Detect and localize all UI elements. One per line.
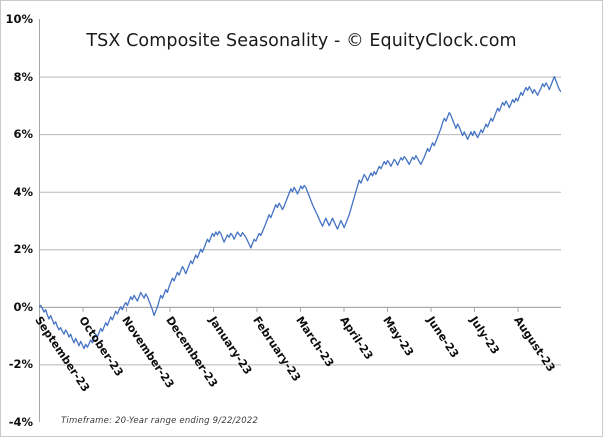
- y-axis-tick-label: 2%: [1, 242, 33, 256]
- gridlines: [39, 20, 561, 423]
- y-axis-tick-label: -4%: [1, 415, 33, 429]
- y-axis-tick-label: 10%: [1, 12, 33, 26]
- y-axis-tick-label: 4%: [1, 185, 33, 199]
- plot-svg: [39, 19, 561, 422]
- y-axis-tick-label: 0%: [1, 300, 33, 314]
- x-axis-ticks: [39, 307, 561, 312]
- plot-area: [39, 19, 561, 422]
- chart-container: TSX Composite Seasonality - © EquityCloc…: [0, 0, 603, 437]
- chart-footnote: Timeframe: 20-Year range ending 9/22/202…: [61, 416, 258, 426]
- y-axis-tick-label: 8%: [1, 70, 33, 84]
- y-axis-tick-label: -2%: [1, 357, 33, 371]
- y-axis-tick-label: 6%: [1, 127, 33, 141]
